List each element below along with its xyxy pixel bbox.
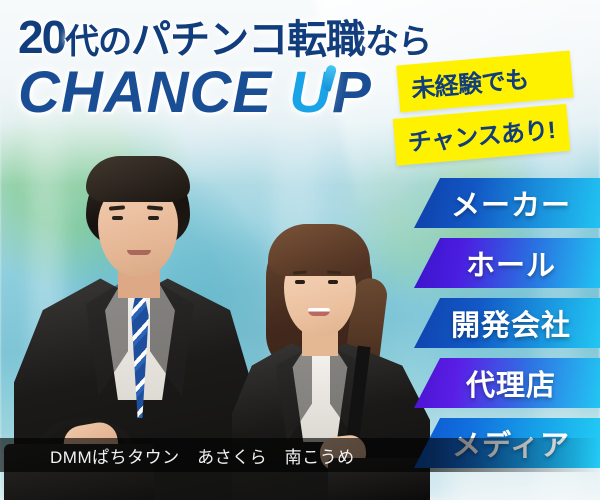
- male-mouth: [127, 250, 151, 255]
- category-tag-list: メーカー ホール 開発会社 代理店 メディア: [414, 178, 600, 468]
- badge-no-experience: 未経験でも: [396, 51, 573, 113]
- category-tag-maker[interactable]: メーカー: [414, 178, 600, 228]
- headline-suffix: 代の: [65, 23, 131, 61]
- female-eye-right: [328, 280, 338, 284]
- headline-block: 20代のパチンコ転職なら CHANCE UP: [18, 14, 418, 124]
- category-tag-label: 開発会社: [443, 302, 571, 344]
- headline-primary: 20代のパチンコ転職なら: [18, 14, 418, 60]
- photo-credit-bar: DMMぱちタウン あさくら 南こうめ: [0, 438, 600, 472]
- logo-word-chance: CHANCE: [18, 60, 272, 125]
- female-eye-left: [295, 280, 305, 284]
- logo-letter-u: U: [289, 63, 332, 124]
- male-fringe: [86, 156, 190, 202]
- promo-banner: 20代のパチンコ転職なら CHANCE UP 未経験でも チャンスあり! メーカ…: [0, 0, 600, 500]
- female-fringe: [268, 224, 370, 276]
- category-tag-label: ホール: [458, 242, 556, 284]
- male-eye-right: [148, 216, 159, 220]
- female-mouth: [308, 308, 330, 316]
- category-tag-agency[interactable]: 代理店: [414, 358, 600, 408]
- yellow-badge-group: 未経験でも チャンスあり!: [398, 58, 572, 152]
- category-tag-label: メーカー: [443, 182, 571, 224]
- chance-up-logo: CHANCE UP: [18, 63, 418, 124]
- category-tag-label: 代理店: [458, 362, 556, 404]
- headline-tail: なら: [365, 23, 431, 61]
- male-eye-left: [112, 216, 123, 220]
- headline-number: 20: [18, 11, 65, 63]
- category-tag-developer[interactable]: 開発会社: [414, 298, 600, 348]
- category-tag-hall[interactable]: ホール: [414, 238, 600, 288]
- logo-letter-p: P: [332, 60, 372, 125]
- headline-middle: パチンコ転職: [131, 18, 365, 62]
- photo-credit-text: DMMぱちタウン あさくら 南こうめ: [0, 443, 355, 468]
